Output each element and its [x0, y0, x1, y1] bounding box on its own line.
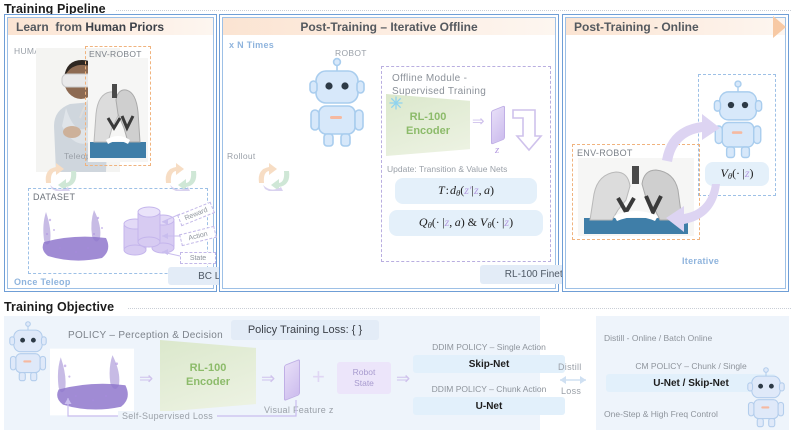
encoder-to-feature-arrow: ⇒ [261, 370, 275, 387]
stage2-latent-z-label: z [495, 144, 499, 156]
distill-online-caption: Distill - Online / Batch Online [600, 330, 780, 346]
objective-encoder-line1: RL-100 [186, 362, 230, 376]
offline-module-title-line2: Supervised Training [392, 86, 486, 97]
x-n-times-label: x N Times [229, 40, 274, 50]
stage1-right-loop-arrows [158, 161, 204, 191]
stage2-encoder-line2: Encoder [406, 125, 450, 139]
dataset-tag-state: State [180, 252, 216, 264]
policy-training-loss-header: Policy Training Loss: { } [231, 320, 379, 340]
stage2-encoder-line1: RL-100 [406, 111, 450, 125]
objective-title-rule [128, 308, 791, 309]
policy-label: POLICY – Perception & Decision [68, 330, 223, 341]
robot-state-box: Robot State [337, 362, 391, 394]
stage1-inner-frame: Learn from Human Priors HUMAN Teleop ENV… [7, 17, 214, 289]
rollout-label: Rollout [227, 151, 256, 161]
stage-post-training-offline: Post-Training – Iterative Offline x N Ti… [219, 14, 559, 292]
value-formula: Qθ(· |z, a) & Vθ(· |z) [389, 210, 543, 236]
self-supervised-loss-label: Self-Supervised Loss [118, 411, 217, 421]
stage1-banner: Learn from Human Priors [8, 18, 213, 35]
dataset-label: DATASET [33, 192, 75, 202]
distill-double-arrow [554, 374, 592, 386]
stage3-cycle-arrows [658, 106, 728, 246]
stage2-rollout-loop-arrows [251, 161, 297, 191]
dataset-point-cloud [36, 204, 114, 266]
state-to-policy-arrow: ⇒ [396, 370, 410, 387]
stage2-robot-icon [305, 56, 369, 148]
stage2-banner: Post-Training – Iterative Offline [223, 18, 555, 35]
teleop-loop-arrows [38, 161, 84, 191]
stage2-feedback-arrow [511, 106, 545, 152]
distill-label-bottom: Loss [561, 386, 581, 396]
banner-arrowhead [773, 16, 786, 38]
objective-right-robot-icon [744, 366, 788, 428]
stage1-banner-label: Learn from Human Priors [8, 20, 172, 34]
pipeline-title-rule [116, 10, 791, 11]
objective-encoder-line2: Encoder [186, 376, 230, 390]
robot-state-line2: State [354, 378, 374, 389]
ddim-single-value: Skip-Net [413, 355, 565, 373]
once-teleop-label: Once Teleop [14, 277, 71, 287]
stage-post-training-online: Post-Training - Online Vθ(· |z) ENV-ROBO… [562, 14, 789, 292]
stage3-inner-frame: Post-Training - Online Vθ(· |z) ENV-ROBO… [565, 17, 786, 289]
objective-section-title: Training Objective [4, 300, 114, 314]
pointcloud-to-encoder-arrow: ⇒ [139, 370, 153, 387]
objective-left-robot-icon [6, 320, 50, 382]
distill-label-top: Distill [558, 362, 582, 372]
robot-state-line1: Robot [353, 367, 376, 378]
ddim-chunk-caption: DDIM POLICY – Chunk Action [413, 381, 565, 397]
stage3-env-robot-label: ENV-ROBOT [577, 148, 633, 158]
stage3-banner-label: Post-Training - Online [566, 20, 707, 34]
stage-learn-human-priors: Learn from Human Priors HUMAN Teleop ENV… [4, 14, 217, 292]
update-nets-label: Update: Transition & Value Nets [387, 164, 507, 174]
stage1-robot-arms-photo [88, 58, 148, 162]
stage2-encoder-to-z-arrow: ⇒ [472, 114, 485, 129]
plus-sign: + [312, 366, 325, 388]
dataset-tag-arrows [160, 210, 182, 264]
stage2-inner-frame: Post-Training – Iterative Offline x N Ti… [222, 17, 556, 289]
snowflake-icon [389, 96, 403, 110]
ddim-chunk-value: U-Net [413, 397, 565, 415]
iterative-label: Iterative [682, 256, 719, 266]
objective-latent-z-bar [284, 359, 300, 401]
stage3-banner: Post-Training - Online [566, 18, 785, 35]
stage2-banner-label: Post-Training – Iterative Offline [292, 20, 485, 34]
offline-module-title-line1: Offline Module - [392, 73, 467, 84]
ddim-single-caption: DDIM POLICY – Single Action [413, 339, 565, 355]
stage2-latent-z-bar [491, 105, 505, 145]
transition-formula: T : dθ(z′|z, a) [395, 178, 537, 204]
